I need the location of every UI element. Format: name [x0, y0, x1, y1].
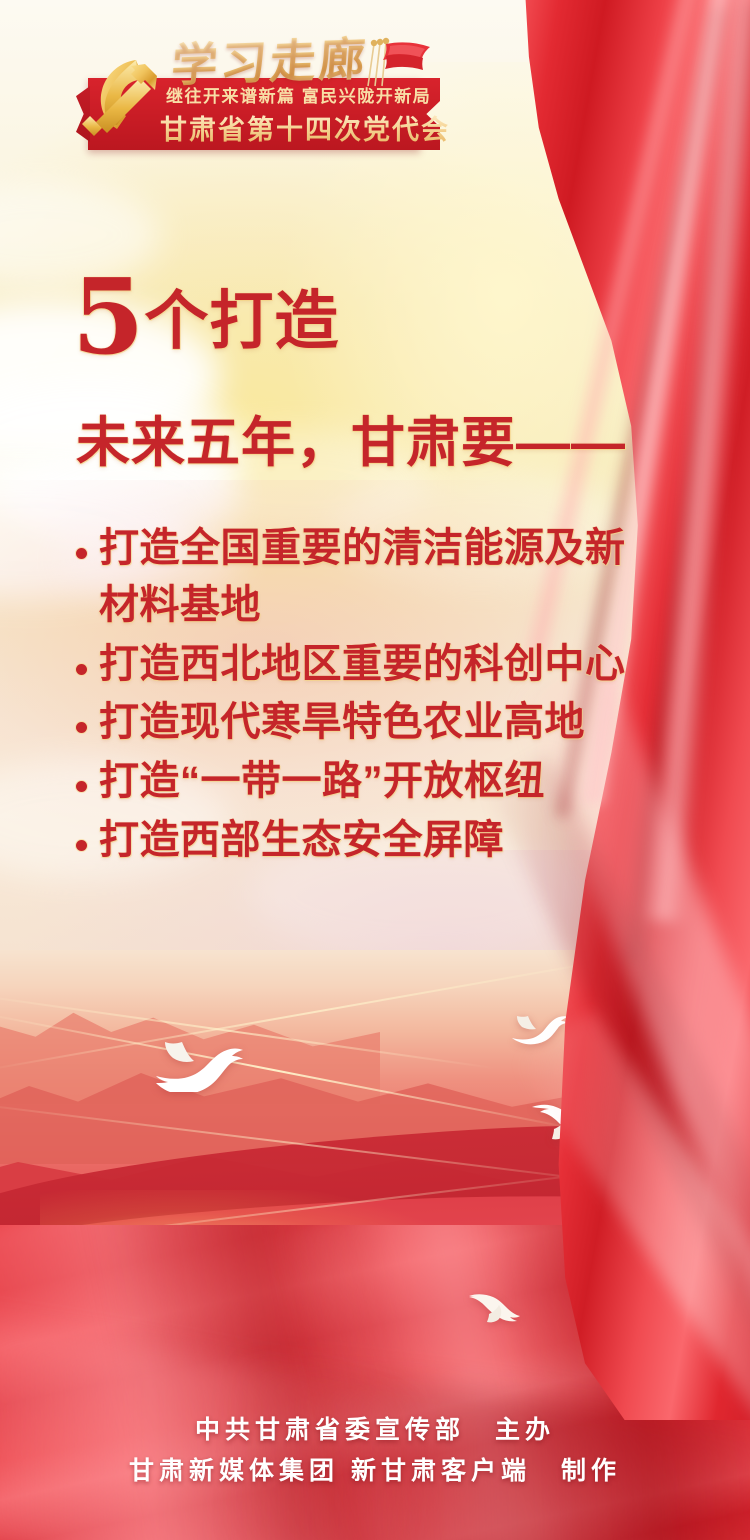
poster-root: 学习走廊 继往开来谱新篇 富民兴陇开新局 甘肃省第十四次党代会 5个打造 未来五… — [0, 0, 750, 1540]
page-subtitle: 未来五年，甘肃要—— — [76, 398, 626, 477]
headline-number: 5 — [72, 255, 144, 378]
bullet-dot-icon — [76, 664, 87, 675]
dove-icon — [508, 1010, 566, 1050]
footer-credits: 中共甘肃省委宣传部 主办 甘肃新媒体集团 新甘肃客户端 制作 — [0, 1410, 750, 1493]
headline-text: 个打造 — [144, 285, 339, 357]
list-item-label: 打造西部生态安全屏障 — [99, 812, 504, 869]
page-title: 5个打造 — [72, 270, 339, 364]
header-banner: 学习走廊 继往开来谱新篇 富民兴陇开新局 甘肃省第十四次党代会 — [74, 30, 434, 150]
dove-icon — [465, 1282, 527, 1324]
list-item-label: 打造“一带一路”开放枢纽 — [99, 753, 545, 810]
bullet-dot-icon — [76, 722, 87, 733]
red-silk-footer-background — [0, 1225, 750, 1540]
list-item: 打造全国重要的清洁能源及新材料基地 — [72, 520, 672, 634]
list-item-label: 打造现代寒旱特色农业高地 — [99, 694, 585, 751]
list-item-label: 打造全国重要的清洁能源及新材料基地 — [99, 520, 639, 634]
footer-organizer: 中共甘肃省委宣传部 主办 — [0, 1410, 750, 1451]
hammer-sickle-icon — [74, 48, 170, 152]
bullet-dot-icon — [76, 781, 87, 792]
dove-icon — [148, 1030, 244, 1092]
list-item: 打造“一带一路”开放枢纽 — [72, 753, 672, 810]
list-item: 打造西部生态安全屏障 — [72, 812, 672, 869]
list-item-label: 打造西北地区重要的科创中心 — [99, 636, 626, 693]
bullet-dot-icon — [76, 548, 87, 559]
banner-event-name: 甘肃省第十四次党代会 — [160, 108, 450, 147]
dove-icon — [590, 1055, 624, 1079]
dove-icon — [528, 1095, 600, 1143]
bullet-list: 打造全国重要的清洁能源及新材料基地 打造西北地区重要的科创中心 打造现代寒旱特色… — [72, 520, 672, 871]
list-item: 打造西北地区重要的科创中心 — [72, 636, 672, 693]
list-item: 打造现代寒旱特色农业高地 — [72, 694, 672, 751]
bullet-dot-icon — [76, 840, 87, 851]
red-flag-icon — [362, 36, 442, 92]
footer-producer: 甘肃新媒体集团 新甘肃客户端 制作 — [0, 1451, 750, 1492]
